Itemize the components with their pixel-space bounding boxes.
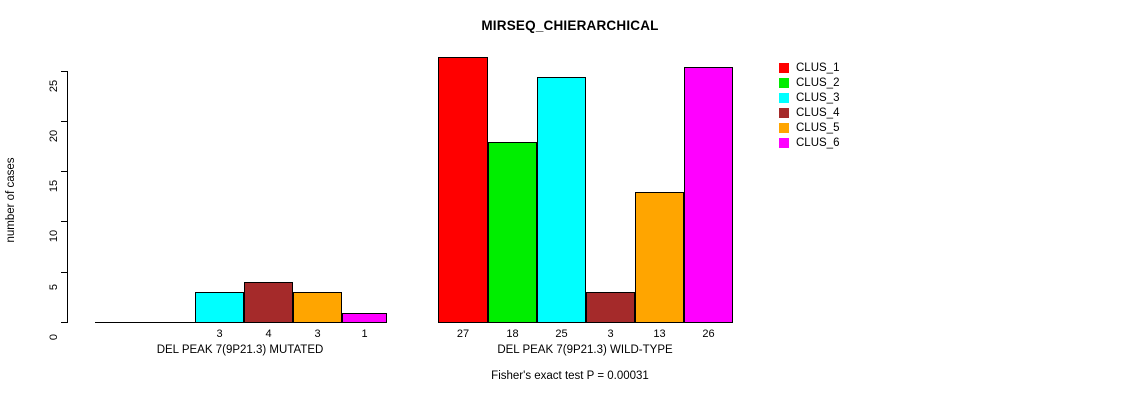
bar-count-label: 3 [195, 328, 244, 340]
y-tick-mark-0 [61, 322, 67, 323]
bar-wildtype-clus6 [684, 67, 733, 323]
bar-count-label: 26 [684, 328, 733, 340]
bar-count-label: 1 [342, 328, 387, 340]
y-tick-label-15: 15 [48, 171, 60, 201]
bar-wildtype-clus3 [537, 77, 586, 323]
group-label-wildtype: DEL PEAK 7(9P21.3) WILD-TYPE [450, 344, 720, 356]
bar-count-label: 27 [438, 328, 488, 340]
y-tick-label-25: 25 [48, 71, 60, 101]
bar-count-label: 18 [488, 328, 537, 340]
bar-mutated-clus6 [342, 313, 387, 323]
y-axis-title: number of cases [5, 145, 17, 255]
bar-mutated-clus3 [195, 292, 244, 323]
legend-swatch-icon [779, 123, 789, 133]
y-tick-label-5: 5 [48, 272, 60, 302]
legend-label: CLUS_5 [796, 121, 839, 136]
group-label-mutated: DEL PEAK 7(9P21.3) MUTATED [105, 344, 375, 356]
legend-swatch-icon [779, 78, 789, 88]
legend-swatch-icon [779, 63, 789, 73]
bar-count-label: 13 [635, 328, 684, 340]
y-tick-mark-20 [61, 121, 67, 122]
chart-title: MIRSEQ_CHIERARCHICAL [0, 18, 1140, 33]
y-tick-label-0: 0 [48, 322, 60, 352]
y-tick-label-10: 10 [48, 221, 60, 251]
y-tick-mark-5 [61, 272, 67, 273]
legend-label: CLUS_4 [796, 106, 839, 121]
legend-label: CLUS_2 [796, 76, 839, 91]
legend-swatch-icon [779, 138, 789, 148]
statistical-test-annotation: Fisher's exact test P = 0.00031 [0, 370, 1140, 382]
y-tick-mark-25 [61, 71, 67, 72]
bar-wildtype-clus4 [586, 292, 635, 323]
bar-mutated-clus5 [293, 292, 342, 323]
legend-label: CLUS_1 [796, 61, 839, 76]
bar-count-label: 3 [586, 328, 635, 340]
legend-swatch-icon [779, 93, 789, 103]
bar-wildtype-clus5 [635, 192, 684, 323]
y-tick-label-20: 20 [48, 121, 60, 151]
bar-count-label: 3 [293, 328, 342, 340]
bar-wildtype-clus2 [488, 142, 537, 323]
y-tick-mark-10 [61, 221, 67, 222]
bar-wildtype-clus1 [438, 57, 488, 323]
bar-chart-plot: MIRSEQ_CHIERARCHICAL 0 5 10 15 20 25 num… [0, 0, 1140, 400]
bar-count-label: 25 [537, 328, 586, 340]
legend-label: CLUS_6 [796, 136, 839, 151]
y-axis-line [67, 71, 68, 323]
legend-swatch-icon [779, 108, 789, 118]
bar-count-label: 4 [244, 328, 293, 340]
legend-label: CLUS_3 [796, 91, 839, 106]
y-tick-mark-15 [61, 171, 67, 172]
bar-mutated-clus4 [244, 282, 293, 323]
